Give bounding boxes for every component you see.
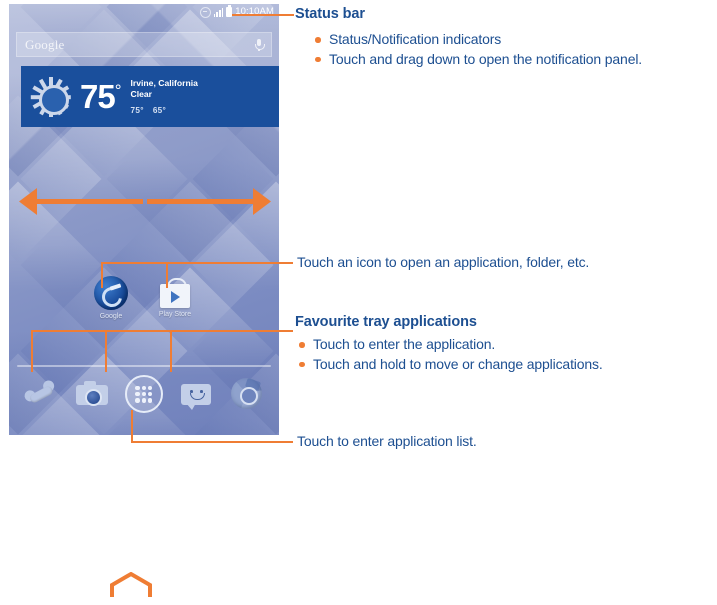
phone-home-screen: 10:10AM Google 75° Irvine, California Cl… (9, 4, 279, 435)
annotation-app-list: Touch to enter application list. (297, 433, 477, 449)
annotation-bullet: Touch and hold to move or change applica… (296, 355, 626, 375)
leader-stem-tray-left (31, 330, 33, 372)
page-swipe-arrows (19, 186, 271, 218)
leader-line-favourite-tray (31, 330, 293, 332)
google-search-widget[interactable]: Google (16, 32, 272, 57)
weather-high: 75° (131, 106, 144, 115)
home-app-play-store[interactable]: Play Store (149, 276, 201, 318)
google-logo: Google (25, 37, 64, 53)
leader-line-app-list (131, 441, 293, 443)
annotation-bullet: Touch and drag down to open the notifica… (312, 50, 712, 70)
home-app-label: Google (85, 313, 137, 320)
favourite-tray (9, 370, 279, 418)
dock-divider (17, 365, 271, 367)
annotation-app-icon: Touch an icon to open an application, fo… (297, 254, 589, 270)
temperature-value: 75 (80, 78, 115, 115)
annotation-bullets-favourite-tray: Touch to enter the application. Touch an… (296, 335, 626, 375)
sync-circle-icon (200, 7, 211, 18)
annotation-bullet: Status/Notification indicators (312, 30, 712, 50)
weather-temperature: 75° (80, 80, 121, 113)
annotation-title-favourite-tray: Favourite tray applications (295, 314, 477, 330)
annotation-bullets-status-bar: Status/Notification indicators Touch and… (312, 30, 712, 70)
status-bar[interactable]: 10:10AM (9, 4, 279, 20)
google-search-icon (94, 276, 128, 310)
home-app-google[interactable]: Google (85, 276, 137, 320)
weather-low: 65° (153, 106, 166, 115)
camera-icon[interactable] (74, 376, 110, 412)
messaging-smiley-icon[interactable] (178, 376, 214, 412)
phone-handset-icon[interactable] (16, 370, 65, 419)
leader-stem-google-icon (101, 262, 103, 288)
degree-symbol: ° (115, 81, 121, 100)
leader-stem-tray-mid (105, 330, 107, 372)
weather-condition: Clear (131, 89, 198, 100)
sun-icon (32, 78, 70, 116)
weather-high-low: 75°65° (131, 106, 198, 115)
leader-stem-tray-right (170, 330, 172, 372)
microphone-icon[interactable] (255, 39, 263, 51)
signal-bars-icon (214, 8, 224, 17)
leader-line-app-icon (101, 262, 293, 264)
app-drawer-grid-icon[interactable] (125, 375, 163, 413)
weather-city: Irvine, California (131, 78, 198, 89)
annotation-title-status-bar: Status bar (295, 6, 365, 22)
weather-details: Irvine, California Clear 75°65° (131, 78, 198, 115)
leader-line-status-bar (232, 14, 294, 16)
leader-stem-app-list (131, 410, 133, 443)
chrome-browser-icon[interactable] (229, 376, 265, 412)
play-store-icon (158, 278, 192, 308)
annotation-bullet: Touch to enter the application. (296, 335, 626, 355)
leader-stem-play-icon (166, 262, 168, 288)
home-key-icon[interactable] (110, 572, 152, 598)
weather-widget[interactable]: 75° Irvine, California Clear 75°65° (21, 66, 279, 127)
home-app-label: Play Store (149, 311, 201, 318)
